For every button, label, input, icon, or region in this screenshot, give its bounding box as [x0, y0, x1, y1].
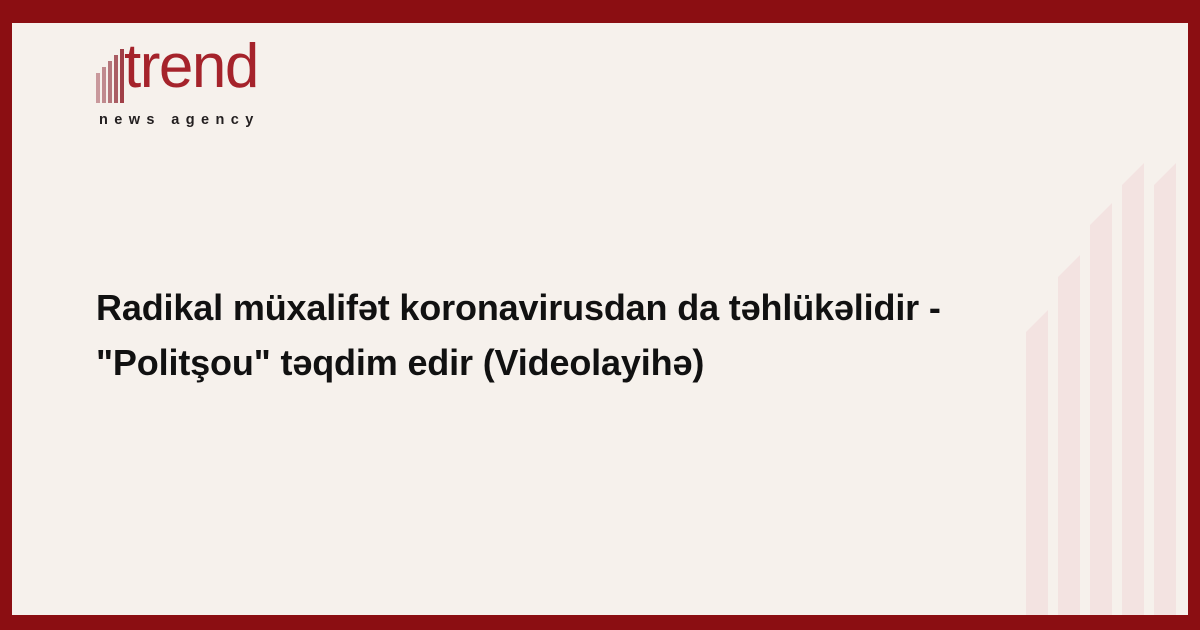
logo-mark-bar — [102, 67, 106, 103]
trend-news-agency-logo[interactable]: trend news agency — [96, 45, 336, 157]
logo-mark-bar — [114, 55, 118, 103]
share-card: trend news agency Radikal müxalifət koro… — [0, 0, 1200, 630]
decorative-ascending-bars — [1016, 160, 1188, 615]
decorative-bar — [1122, 163, 1144, 615]
headline-line-2: "Politşou" təqdim edir (Videolayihə) — [96, 342, 704, 383]
decorative-bar — [1058, 255, 1080, 615]
decorative-bar — [1026, 310, 1048, 615]
logo-tagline: news agency — [99, 112, 260, 128]
decorative-bar — [1154, 163, 1176, 615]
headline: Radikal müxalifət koronavirusdan da təhl… — [96, 281, 996, 390]
headline-line-1: Radikal müxalifət koronavirusdan da təhl… — [96, 287, 941, 328]
logo-wordmark: trend — [124, 36, 258, 98]
logo-mark-bar — [96, 73, 100, 103]
decorative-bar — [1090, 203, 1112, 615]
card-canvas: trend news agency Radikal müxalifət koro… — [12, 23, 1188, 615]
logo-mark-bar — [108, 61, 112, 103]
